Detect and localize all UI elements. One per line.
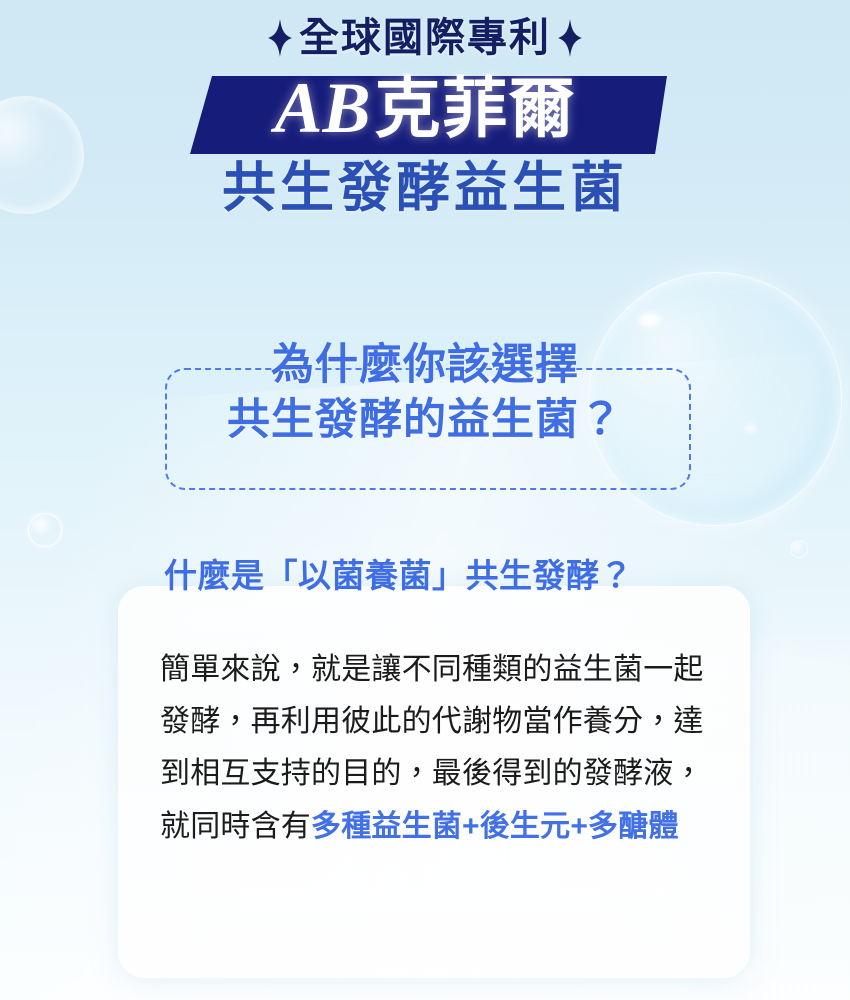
content-card-body: 簡單來說，就是讓不同種類的益生菌一起發酵，再利用彼此的代謝物當作養分，達到相互支…	[160, 644, 720, 853]
question-headline-line2: 共生發酵的益生菌？	[0, 393, 850, 448]
question-headline-line1: 為什麼你該選擇	[0, 338, 850, 393]
promo-page: 全球國際專利 AB 克菲爾 共生發酵益生菌 為什麼你該選擇 共生發酵的益生菌？ …	[0, 0, 850, 1000]
four-point-star-icon-right	[557, 18, 583, 58]
brand-name-latin: AB	[274, 72, 374, 144]
content-card-body-highlight: 多種益生菌+後生元+多醣體	[311, 810, 679, 843]
brand-name-cjk: 克菲爾	[375, 75, 576, 141]
hero-kicker: 全球國際專利	[0, 16, 850, 60]
brand-banner: AB 克菲爾	[0, 62, 850, 154]
content-card-title: 什麼是「以菌養菌」共生發酵？	[164, 556, 804, 596]
hero-subtitle: 共生發酵益生菌	[0, 158, 850, 218]
four-point-star-icon-left	[267, 18, 293, 58]
question-headline: 為什麼你該選擇 共生發酵的益生菌？	[0, 338, 850, 448]
brand-banner-text: AB 克菲爾	[0, 62, 850, 154]
hero-kicker-label: 全球國際專利	[299, 16, 551, 60]
bubble-icon-small	[28, 513, 62, 547]
hero-section: 全球國際專利 AB 克菲爾 共生發酵益生菌	[0, 0, 850, 218]
